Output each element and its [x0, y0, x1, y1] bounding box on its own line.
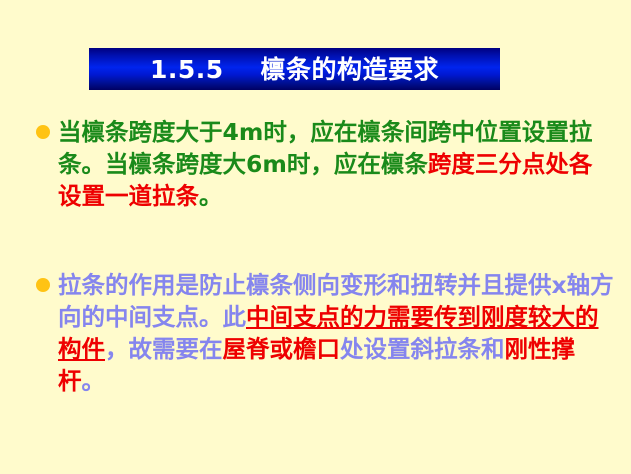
run-2-7: 。 — [82, 367, 106, 395]
run-2-5: 处设置斜拉条和 — [340, 335, 505, 363]
bullet-item-1: 当檩条跨度大于4m时，应在檩条间跨中位置设置拉条。当檩条跨度大6m时，应在檩条跨… — [34, 116, 614, 212]
slide-body: 当檩条跨度大于4m时，应在檩条间跨中位置设置拉条。当檩条跨度大6m时，应在檩条跨… — [34, 116, 614, 397]
bullet-dot-icon — [36, 278, 50, 292]
page-title: 1.5.5 檩条的构造要求 — [150, 57, 439, 82]
run-2-3: ，故需要在 — [105, 335, 223, 363]
bullet-2-text: 拉条的作用是防止檩条侧向变形和扭转并且提供x轴方向的中间支点。此中间支点的力需要… — [58, 269, 614, 397]
bullet-item-2: 拉条的作用是防止檩条侧向变形和扭转并且提供x轴方向的中间支点。此中间支点的力需要… — [34, 269, 614, 397]
slide-canvas: 1.5.5 檩条的构造要求 当檩条跨度大于4m时，应在檩条间跨中位置设置拉条。当… — [0, 0, 631, 474]
bullet-1-text: 当檩条跨度大于4m时，应在檩条间跨中位置设置拉条。当檩条跨度大6m时，应在檩条跨… — [58, 116, 610, 212]
run-2-4: 屋脊或檐口 — [223, 335, 341, 363]
run-1-3: 。 — [199, 182, 223, 210]
bullet-dot-icon — [36, 125, 50, 139]
title-banner: 1.5.5 檩条的构造要求 — [89, 48, 500, 90]
